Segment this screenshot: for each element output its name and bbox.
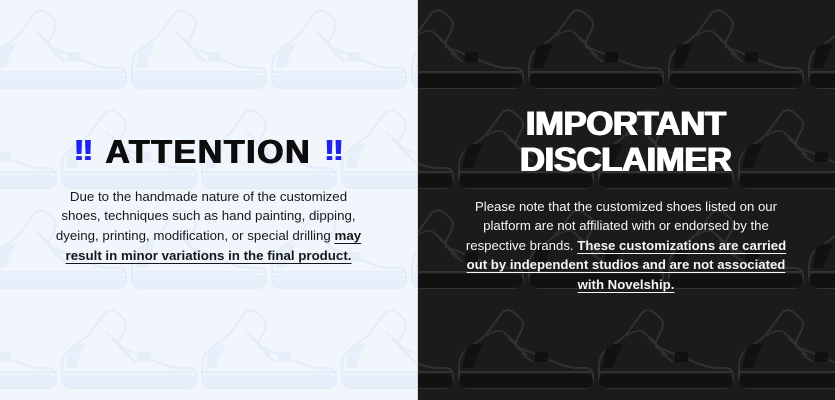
customization-notice-banner: !! ATTENTION !! Due to the handmade natu…: [0, 0, 835, 400]
attention-panel: !! ATTENTION !! Due to the handmade natu…: [0, 0, 417, 400]
attention-content: !! ATTENTION !! Due to the handmade natu…: [0, 0, 417, 400]
disclaimer-content: IMPORTANT DISCLAIMER Please note that th…: [417, 0, 835, 400]
attention-body-normal: Due to the handmade nature of the custom…: [56, 189, 356, 243]
panel-divider: [417, 0, 418, 400]
attention-bang-right-icon: !!: [325, 137, 343, 166]
disclaimer-panel: IMPORTANT DISCLAIMER Please note that th…: [417, 0, 835, 400]
attention-heading: !! ATTENTION !!: [74, 135, 342, 168]
attention-heading-word: ATTENTION: [106, 135, 312, 168]
disclaimer-heading-line2: DISCLAIMER: [520, 142, 732, 178]
disclaimer-body: Please note that the customized shoes li…: [461, 197, 791, 295]
disclaimer-heading-line1: IMPORTANT: [526, 106, 726, 142]
attention-bang-left-icon: !!: [74, 137, 92, 166]
attention-body: Due to the handmade nature of the custom…: [50, 187, 368, 266]
disclaimer-heading: IMPORTANT DISCLAIMER: [520, 106, 732, 179]
